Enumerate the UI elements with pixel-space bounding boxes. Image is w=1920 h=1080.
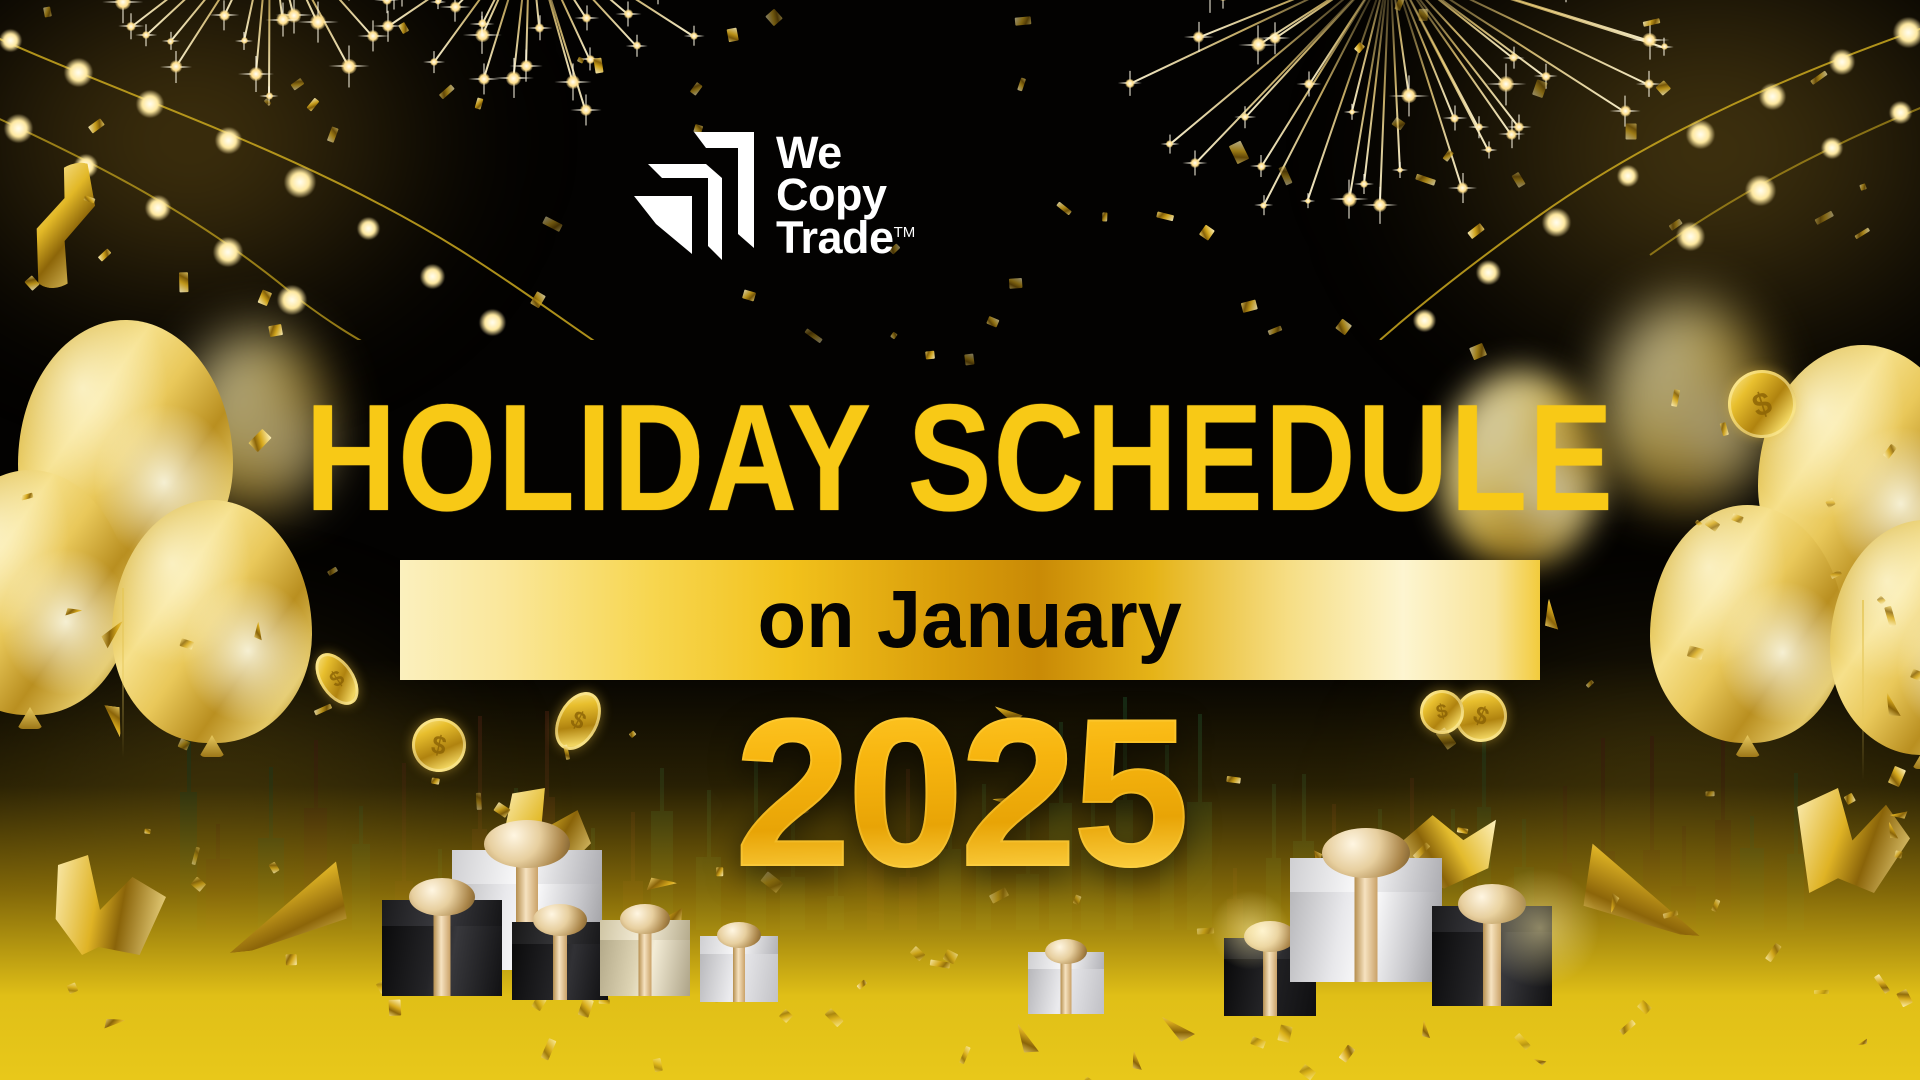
light-bulb bbox=[1676, 222, 1705, 251]
firework-spark bbox=[1498, 120, 1526, 148]
confetti-piece bbox=[1197, 928, 1214, 935]
firework-glow bbox=[430, 58, 438, 66]
firework-spark bbox=[423, 51, 445, 73]
firework-glow bbox=[1257, 162, 1265, 170]
firework-spark bbox=[493, 58, 533, 98]
firework-ray bbox=[269, 0, 294, 16]
confetti-piece bbox=[779, 1009, 793, 1023]
confetti-piece bbox=[825, 1008, 844, 1027]
confetti-piece bbox=[890, 332, 898, 340]
confetti-piece bbox=[1814, 990, 1829, 994]
confetti-piece bbox=[530, 291, 546, 308]
confetti-piece bbox=[263, 98, 271, 106]
firework-spark bbox=[468, 63, 499, 94]
firework-spark bbox=[276, 0, 313, 34]
firework-glow bbox=[142, 31, 150, 39]
firework-spark bbox=[1183, 151, 1208, 176]
firework-spark bbox=[210, 1, 239, 30]
firework-glow bbox=[126, 22, 136, 32]
wecopytrade-arrow-logo-icon bbox=[634, 130, 758, 262]
firework-glow bbox=[535, 23, 545, 33]
firework-glow bbox=[167, 38, 174, 45]
confetti-fan bbox=[1541, 598, 1569, 630]
firework-spark bbox=[1183, 22, 1213, 52]
confetti-piece bbox=[1859, 183, 1867, 190]
confetti-piece bbox=[960, 1046, 971, 1065]
gift-box-black-left bbox=[382, 900, 502, 996]
confetti-fan bbox=[1130, 1050, 1148, 1071]
confetti-piece bbox=[1241, 300, 1258, 314]
firework-glow bbox=[1401, 88, 1417, 104]
gift-box-black-small-left bbox=[512, 922, 608, 1000]
firework-spark bbox=[574, 5, 599, 30]
firework-ray bbox=[483, 0, 531, 80]
firework-spark bbox=[376, 0, 413, 10]
firework-ray bbox=[1274, 0, 1390, 40]
firework-glow bbox=[1397, 167, 1403, 173]
light-bulb bbox=[4, 114, 33, 143]
firework-glow bbox=[435, 0, 441, 5]
firework-glow bbox=[506, 71, 521, 86]
confetti-piece bbox=[1102, 212, 1108, 222]
firework-spark bbox=[626, 34, 649, 57]
confetti-piece bbox=[1278, 166, 1292, 186]
firework-spark bbox=[238, 56, 274, 92]
firework-glow bbox=[1541, 72, 1550, 81]
firework-ray bbox=[1389, 0, 1410, 96]
firework-ray bbox=[269, 0, 271, 97]
firework-ray bbox=[1169, 0, 1390, 145]
confetti-piece bbox=[1084, 1076, 1094, 1080]
confetti-fan bbox=[1163, 1005, 1200, 1044]
light-bulb bbox=[64, 58, 93, 87]
light-bulb bbox=[357, 217, 380, 240]
confetti-piece bbox=[1392, 116, 1406, 130]
confetti-piece bbox=[1418, 9, 1427, 21]
firework-spark bbox=[1480, 141, 1497, 158]
firework-ray bbox=[529, 0, 590, 60]
confetti-piece bbox=[389, 999, 401, 1016]
subtitle-text: on January bbox=[758, 573, 1182, 667]
firework-spark bbox=[1507, 114, 1532, 139]
firework-ray bbox=[1261, 0, 1391, 168]
confetti-piece bbox=[475, 97, 484, 109]
firework-ray bbox=[529, 0, 573, 83]
firework-ray bbox=[269, 0, 374, 38]
firework-ray bbox=[438, 0, 531, 3]
firework-glow bbox=[624, 9, 634, 19]
light-bulb bbox=[277, 285, 307, 315]
firework-glow bbox=[1349, 109, 1355, 115]
firework-glow bbox=[287, 8, 301, 22]
firework-spark bbox=[1630, 21, 1669, 60]
confetti-piece bbox=[1810, 70, 1828, 85]
firework-ray bbox=[1389, 0, 1506, 86]
firework-glow bbox=[450, 1, 462, 13]
firework-ray bbox=[269, 0, 350, 68]
confetti-piece bbox=[1017, 78, 1026, 92]
confetti-piece bbox=[1512, 172, 1526, 188]
firework-spark bbox=[1344, 104, 1360, 120]
firework-ray bbox=[1195, 0, 1391, 164]
promo-banner: $ $ $ $ $ $ bbox=[0, 0, 1920, 1080]
firework-glow bbox=[475, 28, 490, 43]
firework-ray bbox=[1390, 0, 1547, 78]
firework-glow bbox=[1269, 32, 1281, 44]
confetti-piece bbox=[1619, 1019, 1636, 1035]
light-bulb bbox=[1893, 17, 1920, 48]
firework-glow bbox=[1342, 192, 1357, 207]
light-bulb bbox=[1542, 208, 1571, 237]
firework-glow bbox=[520, 60, 533, 73]
firework-spark bbox=[1448, 173, 1478, 203]
firework-ray bbox=[526, 0, 531, 67]
firework-glow bbox=[1360, 180, 1368, 188]
brand-line-1: We bbox=[776, 132, 915, 174]
firework-glow bbox=[1125, 79, 1134, 88]
firework-spark bbox=[340, 0, 359, 1]
gift-box-white-small-center bbox=[700, 936, 778, 1002]
confetti-piece bbox=[1250, 1036, 1266, 1048]
confetti-piece bbox=[1300, 1064, 1317, 1080]
firework-spark bbox=[1389, 75, 1430, 116]
firework-spark bbox=[527, 15, 552, 40]
firework-spark bbox=[1636, 71, 1662, 97]
firework-spark bbox=[329, 46, 370, 87]
light-bulb bbox=[1413, 309, 1436, 332]
firework-spark bbox=[510, 49, 543, 82]
light-bulb bbox=[1686, 120, 1715, 149]
light-bulb bbox=[0, 29, 22, 52]
brand-line-2: Copy bbox=[776, 174, 915, 216]
firework-spark bbox=[684, 25, 705, 46]
firework-spark bbox=[470, 11, 495, 36]
firework-spark bbox=[162, 32, 180, 50]
confetti-piece bbox=[1229, 140, 1249, 164]
confetti-piece bbox=[1765, 943, 1782, 963]
firework-spark bbox=[440, 0, 471, 22]
light-bulb bbox=[1617, 165, 1639, 187]
firework-glow bbox=[1260, 202, 1268, 210]
firework-glow bbox=[1193, 31, 1205, 43]
gift-box-cream-center bbox=[600, 920, 690, 996]
firework-glow bbox=[633, 41, 642, 50]
firework-spark bbox=[1362, 187, 1398, 223]
firework-glow bbox=[170, 60, 182, 72]
firework-glow bbox=[382, 20, 394, 32]
firework-ray bbox=[455, 0, 531, 8]
confetti-piece bbox=[543, 216, 563, 232]
firework-glow bbox=[367, 30, 379, 42]
gift-box-black-right bbox=[1432, 906, 1552, 1006]
firework-ray bbox=[482, 0, 531, 25]
confetti-piece bbox=[398, 21, 409, 33]
light-bulb bbox=[1889, 101, 1912, 124]
light-bulb bbox=[420, 264, 445, 289]
firework-ray bbox=[529, 0, 587, 19]
firework-glow bbox=[1241, 113, 1249, 121]
firework-ray bbox=[255, 0, 270, 75]
light-bulb bbox=[1476, 260, 1501, 285]
confetti-piece bbox=[1416, 174, 1436, 186]
firework-ray bbox=[1390, 0, 1665, 48]
subtitle-bar: on January bbox=[400, 560, 1540, 680]
firework-ray bbox=[1390, 0, 1649, 85]
confetti-piece bbox=[1532, 79, 1548, 98]
confetti-fan bbox=[1018, 1023, 1043, 1054]
firework-glow bbox=[1166, 140, 1173, 147]
firework-ray bbox=[1349, 0, 1391, 200]
confetti-piece bbox=[1514, 1033, 1531, 1050]
firework-spark bbox=[1468, 116, 1490, 138]
firework-glow bbox=[1304, 79, 1314, 89]
firework-ray bbox=[224, 0, 271, 16]
firework-ray bbox=[482, 0, 531, 36]
light-bulb bbox=[284, 166, 316, 198]
confetti-piece bbox=[257, 290, 272, 306]
confetti-piece bbox=[286, 954, 297, 966]
firework-ray bbox=[1198, 0, 1390, 39]
light-bulb bbox=[145, 195, 171, 221]
firework-spark bbox=[387, 0, 416, 6]
firework-glow bbox=[566, 75, 580, 89]
confetti-fan bbox=[103, 1016, 125, 1035]
confetti-piece bbox=[690, 82, 703, 96]
firework-glow bbox=[1498, 76, 1514, 92]
firework-ray bbox=[269, 0, 283, 20]
firework-ray bbox=[1245, 0, 1391, 118]
confetti-piece bbox=[1874, 974, 1890, 994]
firework-glow bbox=[341, 59, 357, 75]
firework-ray bbox=[170, 0, 271, 42]
confetti-piece bbox=[1010, 278, 1023, 289]
firework-spark bbox=[463, 16, 501, 54]
firework-glow bbox=[310, 14, 326, 30]
firework-spark bbox=[430, 0, 446, 9]
firework-glow bbox=[1514, 122, 1524, 132]
firework-spark bbox=[1239, 25, 1278, 64]
firework-glow bbox=[1305, 198, 1311, 204]
brand-logo[interactable]: We Copy TradeTM bbox=[634, 108, 934, 283]
firework-glow bbox=[1506, 129, 1517, 140]
confetti-piece bbox=[1014, 16, 1030, 25]
firework-glow bbox=[1509, 53, 1518, 62]
firework-spark bbox=[1297, 72, 1322, 97]
firework-spark bbox=[102, 0, 144, 23]
firework-ray bbox=[1389, 0, 1519, 128]
confetti-piece bbox=[1335, 319, 1351, 335]
firework-spark bbox=[1250, 156, 1272, 178]
firework-spark bbox=[1442, 106, 1467, 131]
confetti-piece bbox=[24, 275, 40, 291]
firework-glow bbox=[1457, 182, 1469, 194]
firework-ray bbox=[131, 0, 271, 28]
firework-glow bbox=[582, 13, 592, 23]
firework-spark bbox=[1160, 135, 1179, 154]
brand-line-3: TradeTM bbox=[776, 217, 915, 259]
firework-glow bbox=[1620, 105, 1632, 117]
firework-spark bbox=[1354, 174, 1374, 194]
firework-glow bbox=[580, 104, 592, 116]
confetti-piece bbox=[1156, 211, 1174, 221]
firework-glow bbox=[276, 13, 289, 26]
firework-spark bbox=[266, 2, 301, 37]
firework-spark bbox=[616, 1, 641, 26]
firework-spark bbox=[647, 0, 670, 5]
confetti-piece bbox=[909, 946, 925, 962]
firework-ray bbox=[1258, 0, 1391, 46]
light-bulb bbox=[1745, 175, 1776, 206]
confetti-piece bbox=[1468, 223, 1486, 239]
firework-ray bbox=[269, 0, 318, 23]
confetti-piece bbox=[1338, 1044, 1355, 1063]
confetti-piece bbox=[179, 273, 189, 293]
confetti-piece bbox=[1656, 81, 1671, 96]
confetti-piece bbox=[1896, 989, 1912, 1007]
confetti-piece bbox=[1815, 211, 1834, 225]
confetti-piece bbox=[1469, 343, 1487, 360]
confetti-piece bbox=[765, 9, 782, 26]
firework-glow bbox=[690, 32, 698, 40]
firework-ray bbox=[1389, 0, 1463, 189]
confetti-piece bbox=[98, 249, 112, 262]
string-lights bbox=[0, 0, 1920, 340]
firework-spark bbox=[1610, 96, 1641, 127]
firework-spark bbox=[1485, 64, 1526, 105]
confetti-piece bbox=[1056, 202, 1072, 216]
confetti-piece bbox=[306, 97, 319, 111]
confetti-piece bbox=[1395, 0, 1406, 11]
firework-ray bbox=[1389, 0, 1479, 128]
firework-glow bbox=[1190, 158, 1200, 168]
gift-box-white-small-right bbox=[1028, 952, 1104, 1014]
confetti-piece bbox=[926, 350, 935, 359]
confetti-piece bbox=[742, 289, 756, 301]
firework-ray bbox=[146, 0, 271, 36]
firework-glow bbox=[1475, 123, 1483, 131]
confetti-piece bbox=[1668, 219, 1682, 231]
firework-spark bbox=[1553, 0, 1581, 2]
firework-glow bbox=[219, 10, 230, 21]
headline-title: HOLIDAY SCHEDULE bbox=[163, 382, 1757, 534]
year-numerals: 2025 bbox=[0, 672, 1920, 914]
firework-ray bbox=[1389, 0, 1401, 171]
firework-spark bbox=[1392, 162, 1408, 178]
firework-ray bbox=[1379, 0, 1390, 206]
confetti-piece bbox=[652, 1058, 663, 1073]
confetti-piece bbox=[1354, 42, 1366, 54]
firework-spark bbox=[570, 95, 601, 126]
trademark-symbol: TM bbox=[894, 224, 916, 241]
light-bulb bbox=[215, 127, 242, 154]
firework-glow bbox=[241, 37, 248, 44]
firework-ray bbox=[529, 0, 540, 29]
firework-spark bbox=[358, 21, 389, 52]
firework-spark bbox=[1330, 180, 1369, 219]
brand-line-3-text: Trade bbox=[776, 212, 894, 263]
firework-glow bbox=[1485, 146, 1492, 153]
firework-spark bbox=[297, 2, 338, 43]
firework-ray bbox=[529, 0, 637, 47]
confetti-piece bbox=[727, 28, 739, 43]
firework-ray bbox=[1363, 0, 1390, 185]
brand-wordmark: We Copy TradeTM bbox=[776, 132, 915, 259]
confetti-piece bbox=[88, 119, 105, 134]
confetti-fan bbox=[1857, 1037, 1867, 1045]
confetti-piece bbox=[857, 979, 868, 990]
confetti-piece bbox=[578, 997, 594, 1017]
firework-ray bbox=[1307, 0, 1391, 202]
confetti-piece bbox=[290, 77, 304, 90]
confetti-piece bbox=[1267, 326, 1282, 336]
confetti-piece bbox=[1625, 123, 1636, 139]
firework-ray bbox=[530, 0, 695, 37]
firework-glow bbox=[1218, 0, 1228, 1]
firework-ray bbox=[513, 0, 531, 79]
firework-ray bbox=[1390, 0, 1515, 59]
firework-spark bbox=[1211, 0, 1236, 9]
firework-ray bbox=[388, 0, 531, 27]
confetti-piece bbox=[1443, 149, 1455, 162]
confetti-piece bbox=[43, 6, 52, 17]
firework-spark bbox=[1118, 71, 1142, 95]
firework-spark bbox=[1254, 196, 1274, 216]
firework-spark bbox=[135, 24, 157, 46]
firework-glow bbox=[1661, 43, 1668, 50]
firework-ray bbox=[529, 0, 586, 111]
confetti-piece bbox=[593, 58, 603, 74]
light-bulb bbox=[1829, 49, 1855, 75]
firework-spark bbox=[554, 63, 591, 100]
firework-glow bbox=[1642, 33, 1657, 48]
firework-ray bbox=[1351, 0, 1390, 113]
light-bulb bbox=[479, 309, 506, 336]
confetti-piece bbox=[326, 125, 338, 142]
firework-ray bbox=[122, 0, 270, 4]
firework-spark bbox=[119, 14, 144, 39]
light-bulb bbox=[213, 237, 243, 267]
firework-glow bbox=[1373, 198, 1387, 212]
confetti-piece bbox=[328, 567, 339, 576]
firework-spark bbox=[1655, 37, 1674, 56]
light-bulb bbox=[1821, 137, 1843, 159]
confetti-piece bbox=[1643, 18, 1661, 26]
confetti-piece bbox=[986, 316, 999, 327]
firework-ray bbox=[530, 0, 629, 15]
firework-spark bbox=[1234, 106, 1256, 128]
confetti-piece bbox=[1277, 1025, 1292, 1043]
confetti-fan bbox=[1534, 1052, 1548, 1066]
confetti-piece bbox=[439, 84, 455, 99]
firework-spark bbox=[1190, 0, 1230, 13]
firework-spark bbox=[374, 0, 400, 13]
firework-spark bbox=[235, 32, 253, 50]
confetti-piece bbox=[577, 57, 585, 64]
confetti-fan bbox=[1420, 1020, 1437, 1039]
firework-glow bbox=[382, 0, 392, 5]
confetti-piece bbox=[1199, 225, 1215, 241]
firework-glow bbox=[478, 19, 488, 29]
confetti-piece bbox=[540, 1038, 556, 1061]
firework-glow bbox=[1644, 79, 1654, 89]
firework-ray bbox=[175, 0, 270, 68]
firework-ray bbox=[434, 0, 531, 63]
string-light-bulbs bbox=[0, 0, 1920, 340]
confetti-piece bbox=[67, 982, 79, 994]
confetti-piece bbox=[1854, 227, 1870, 239]
firework-spark bbox=[1300, 193, 1316, 209]
light-bulb bbox=[1759, 83, 1786, 110]
